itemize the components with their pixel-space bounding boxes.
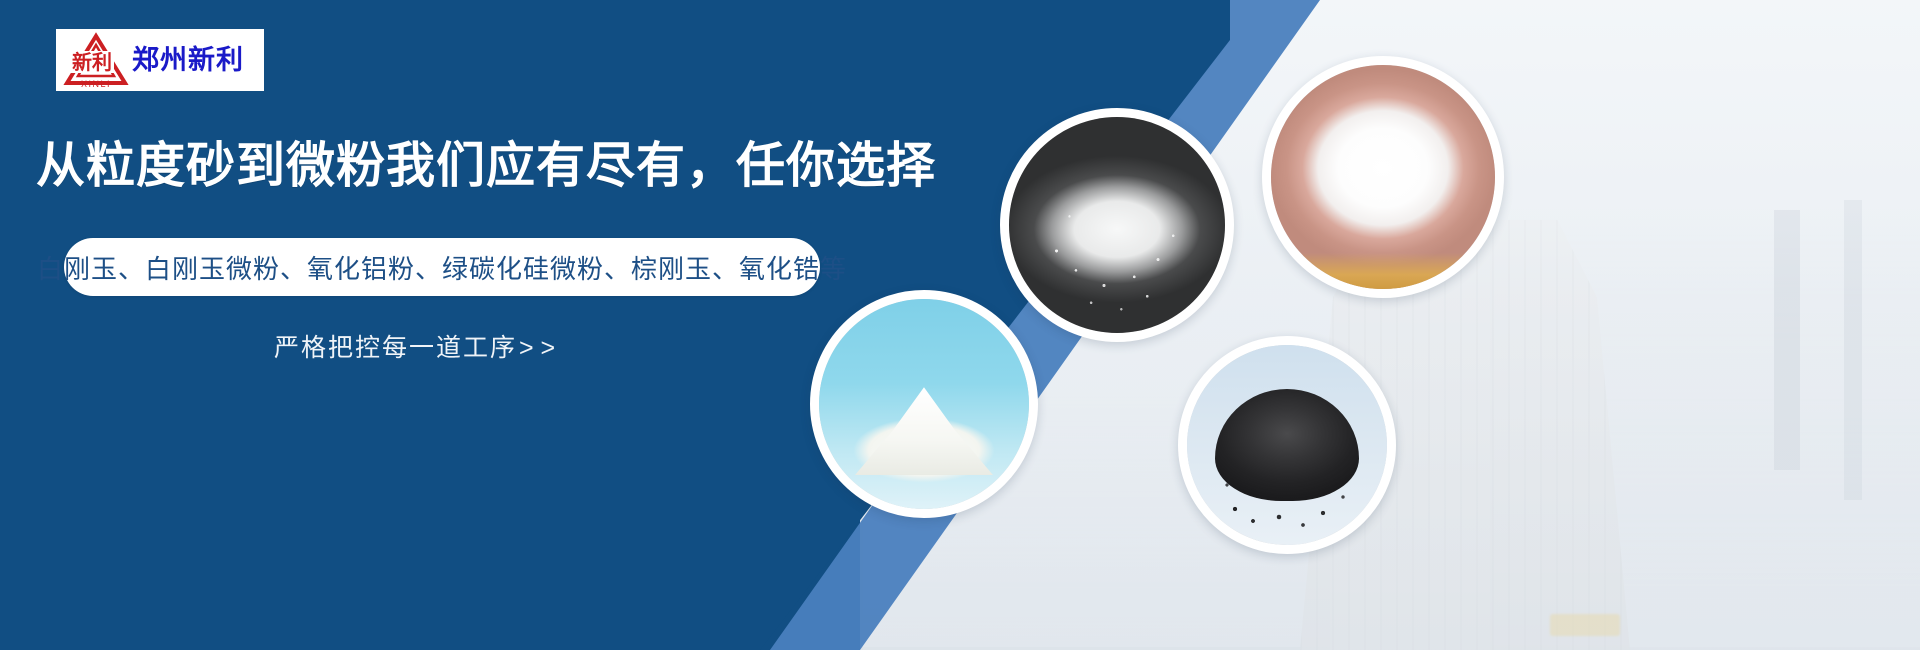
grit-scatter-texture [1187, 345, 1387, 545]
svg-text:XINLI: XINLI [81, 79, 111, 89]
white-sand-photo [1009, 117, 1225, 333]
sand-grain-texture [1009, 117, 1225, 333]
product-circle-black-grit [1178, 336, 1396, 554]
subtitle-text: 严格把控每一道工序 [274, 334, 517, 362]
product-circle-white-powder [1262, 56, 1504, 298]
product-list-pill[interactable]: 白刚玉、白刚玉微粉、氧化铝粉、绿碳化硅微粉、棕刚玉、氧化锆等 [64, 238, 820, 296]
svg-text:新利: 新利 [72, 50, 112, 74]
company-logo[interactable]: 新利 XINLI 郑州新利 [56, 29, 264, 91]
xinli-triangle-icon: 新利 XINLI [62, 31, 130, 89]
alumina-powder-photo [819, 299, 1029, 509]
powder-mound-shape [855, 387, 994, 475]
subtitle-link[interactable]: 严格把控每一道工序> > [274, 328, 555, 364]
promo-banner: 新利 XINLI 郑州新利 从粒度砂到微粉我们应有尽有，任你选择 白刚玉、白刚玉… [0, 0, 1920, 650]
logo-company-name: 郑州新利 [132, 47, 244, 74]
black-grit-photo [1187, 345, 1387, 545]
tray-rim-highlight [1271, 253, 1495, 289]
white-powder-photo [1271, 65, 1495, 289]
arrow-right-icon: > > [519, 334, 555, 362]
product-list-text: 白刚玉、白刚玉微粉、氧化铝粉、绿碳化硅微粉、棕刚玉、氧化锆等 [37, 249, 847, 286]
product-circle-white-sand [1000, 108, 1234, 342]
product-circle-alumina-powder [810, 290, 1038, 518]
headline: 从粒度砂到微粉我们应有尽有，任你选择 [36, 140, 976, 194]
